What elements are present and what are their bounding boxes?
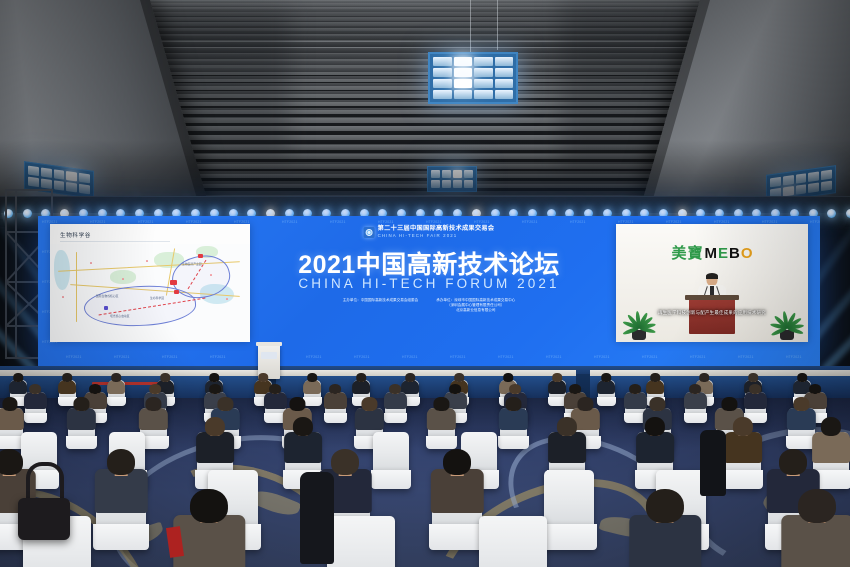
wall-watermark: HTF2021 xyxy=(114,355,130,359)
audience-member xyxy=(59,373,77,395)
map-label: 国际生物谷核心区 xyxy=(96,294,118,298)
globe-network-icon xyxy=(364,227,375,238)
left-content-panel-map: 生物科学谷 生物医药产业园 国际生 xyxy=(50,224,250,342)
light-cell xyxy=(454,68,473,77)
audience-member xyxy=(24,384,46,411)
fair-logo-cn: 第二十三届中国国际高新技术成果交易会 xyxy=(378,226,495,232)
light-cell xyxy=(454,90,473,99)
audience-member xyxy=(427,397,455,433)
audience-member xyxy=(304,373,322,395)
wall-watermark: HTF2021 xyxy=(66,355,82,359)
fair-logo: 第二十三届中国国际高新技术成果交易会 CHINA HI-TECH FAIR 20… xyxy=(364,226,495,238)
chair xyxy=(544,470,594,526)
light-cell xyxy=(454,79,473,88)
audience-member xyxy=(684,384,706,411)
audience-member xyxy=(647,373,665,395)
potted-plant-right xyxy=(770,296,804,340)
coat-on-chair xyxy=(300,472,334,564)
map-label: 生命科学园 xyxy=(150,296,164,300)
audience-member xyxy=(0,397,24,433)
conference-hall-photo: HTF2021HTF2021HTF2021HTF2021HTF2021HTF20… xyxy=(0,0,850,567)
map-canvas: 生物医药产业园 国际生物谷核心区 生命科学园 坝光核心启动区 xyxy=(50,244,250,342)
page-subtitle: CHINA HI-TECH FORUM 2021 xyxy=(298,276,559,291)
light-cell xyxy=(474,68,493,77)
fixture-hang-wire xyxy=(470,0,471,52)
light-cell xyxy=(474,57,493,66)
light-cell xyxy=(495,79,514,88)
audience-member xyxy=(744,384,766,411)
lectern-nameplate xyxy=(261,352,277,359)
podium xyxy=(689,298,735,334)
map-panel-title: 生物科学谷 xyxy=(60,231,91,239)
audience-member xyxy=(353,373,371,395)
audience-member xyxy=(431,449,484,518)
wall-watermark: HTF2021 xyxy=(210,355,226,359)
organizer-credits: 主办单位：中国国际高新技术成果交易会组委会 承办单位：深圳市中国国际高新技术成果… xyxy=(263,298,595,314)
audience-member xyxy=(636,417,674,467)
right-content-panel-video: 美寶 MEBO xyxy=(616,224,808,342)
map-label: 坝光核心启动区 xyxy=(110,314,130,318)
map-label: 生物医药产业园 xyxy=(182,262,202,266)
audience-member xyxy=(724,417,762,467)
audience-member xyxy=(548,417,586,467)
chair xyxy=(479,516,547,567)
audience-member xyxy=(499,397,527,433)
potted-plant-left xyxy=(622,296,656,340)
audience-member xyxy=(67,397,95,433)
center-title-block: 第二十三届中国国际高新技术成果交易会 CHINA HI-TECH FAIR 20… xyxy=(263,216,595,368)
organizer-line: 主办单位：中国国际高新技术成果交易会组委会 xyxy=(343,298,418,303)
light-cell xyxy=(454,57,473,66)
audience-member xyxy=(95,449,148,518)
wall-watermark: HTF2021 xyxy=(162,355,178,359)
wall-watermark: HTF2021 xyxy=(642,355,658,359)
organizer-column: 主办单位：中国国际高新技术成果交易会组委会 xyxy=(343,298,418,314)
handbag xyxy=(18,498,70,540)
audience-member xyxy=(630,489,701,567)
audience-member xyxy=(355,397,383,433)
fixture-hang-wire xyxy=(497,0,498,50)
audience-member xyxy=(284,417,322,467)
organizer-column: 承办单位：深圳市中国国际高新技术成果交易中心 （深圳会展中心管理有限责任公司） … xyxy=(436,298,515,314)
map-title-rule xyxy=(60,241,170,242)
video-subtitle: 再生医学科技创新与配产生最佳成果的应用技术研究 xyxy=(620,310,804,316)
wall-watermark: HTF2021 xyxy=(810,220,820,224)
light-cell xyxy=(433,79,452,88)
chair xyxy=(327,516,395,567)
light-cell xyxy=(495,90,514,99)
mebo-brand-logo: 美寶 MEBO xyxy=(671,242,752,263)
audience-member xyxy=(782,489,850,567)
led-video-wall: HTF2021HTF2021HTF2021HTF2021HTF2021HTF20… xyxy=(38,216,820,368)
light-cell xyxy=(474,90,493,99)
chair xyxy=(373,432,409,472)
audience-member xyxy=(174,489,245,567)
wall-watermark: HTF2021 xyxy=(738,355,754,359)
audience-member xyxy=(108,373,126,395)
coat-on-chair xyxy=(700,430,726,496)
spotlight-icon xyxy=(846,203,850,219)
audience-member xyxy=(324,384,346,411)
wall-watermark: HTF2021 xyxy=(594,355,610,359)
audience-member xyxy=(598,373,616,395)
audience-member xyxy=(139,397,167,433)
light-cell xyxy=(495,68,514,77)
mebo-brand-cn: 美寶 xyxy=(671,242,703,263)
fair-logo-en: CHINA HI-TECH FAIR 2021 xyxy=(378,234,495,238)
audience-member xyxy=(384,384,406,411)
wall-watermark: HTF2021 xyxy=(690,355,706,359)
grid-light-icon xyxy=(428,52,518,104)
light-cell xyxy=(433,68,452,77)
light-cell xyxy=(433,90,452,99)
light-cell xyxy=(474,79,493,88)
light-cell xyxy=(495,57,514,66)
organizer-line: 北京高新业信息有限公司 xyxy=(456,308,496,313)
spotlight-icon xyxy=(827,203,836,219)
wall-watermark: HTF2021 xyxy=(786,355,802,359)
audience-member xyxy=(196,417,234,467)
light-cell xyxy=(433,57,452,66)
